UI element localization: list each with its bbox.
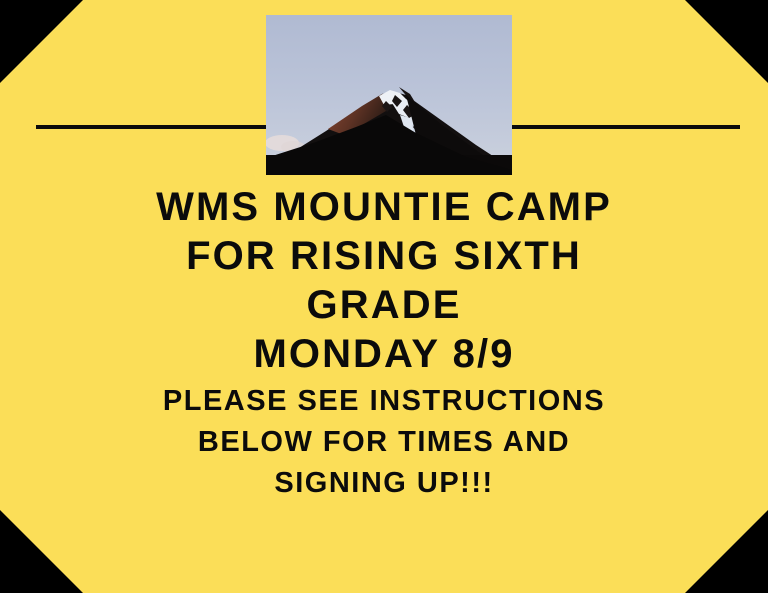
subtext-line-3: SIGNING UP!!! <box>0 465 768 502</box>
subtext-line-2: BELOW FOR TIMES AND <box>0 424 768 461</box>
mountain-photo-illustration <box>266 15 512 175</box>
mountain-photo <box>266 15 512 175</box>
flyer-copy: WMS MOUNTIE CAMP FOR RISING SIXTH GRADE … <box>0 183 768 502</box>
flyer-canvas: WMS MOUNTIE CAMP FOR RISING SIXTH GRADE … <box>0 0 768 593</box>
subtext-line-1: PLEASE SEE INSTRUCTIONS <box>0 383 768 420</box>
headline-line-2: FOR RISING SIXTH <box>0 232 768 281</box>
headline-line-1: WMS MOUNTIE CAMP <box>0 183 768 232</box>
headline-line-3: GRADE <box>0 281 768 330</box>
headline-line-4: MONDAY 8/9 <box>0 330 768 379</box>
